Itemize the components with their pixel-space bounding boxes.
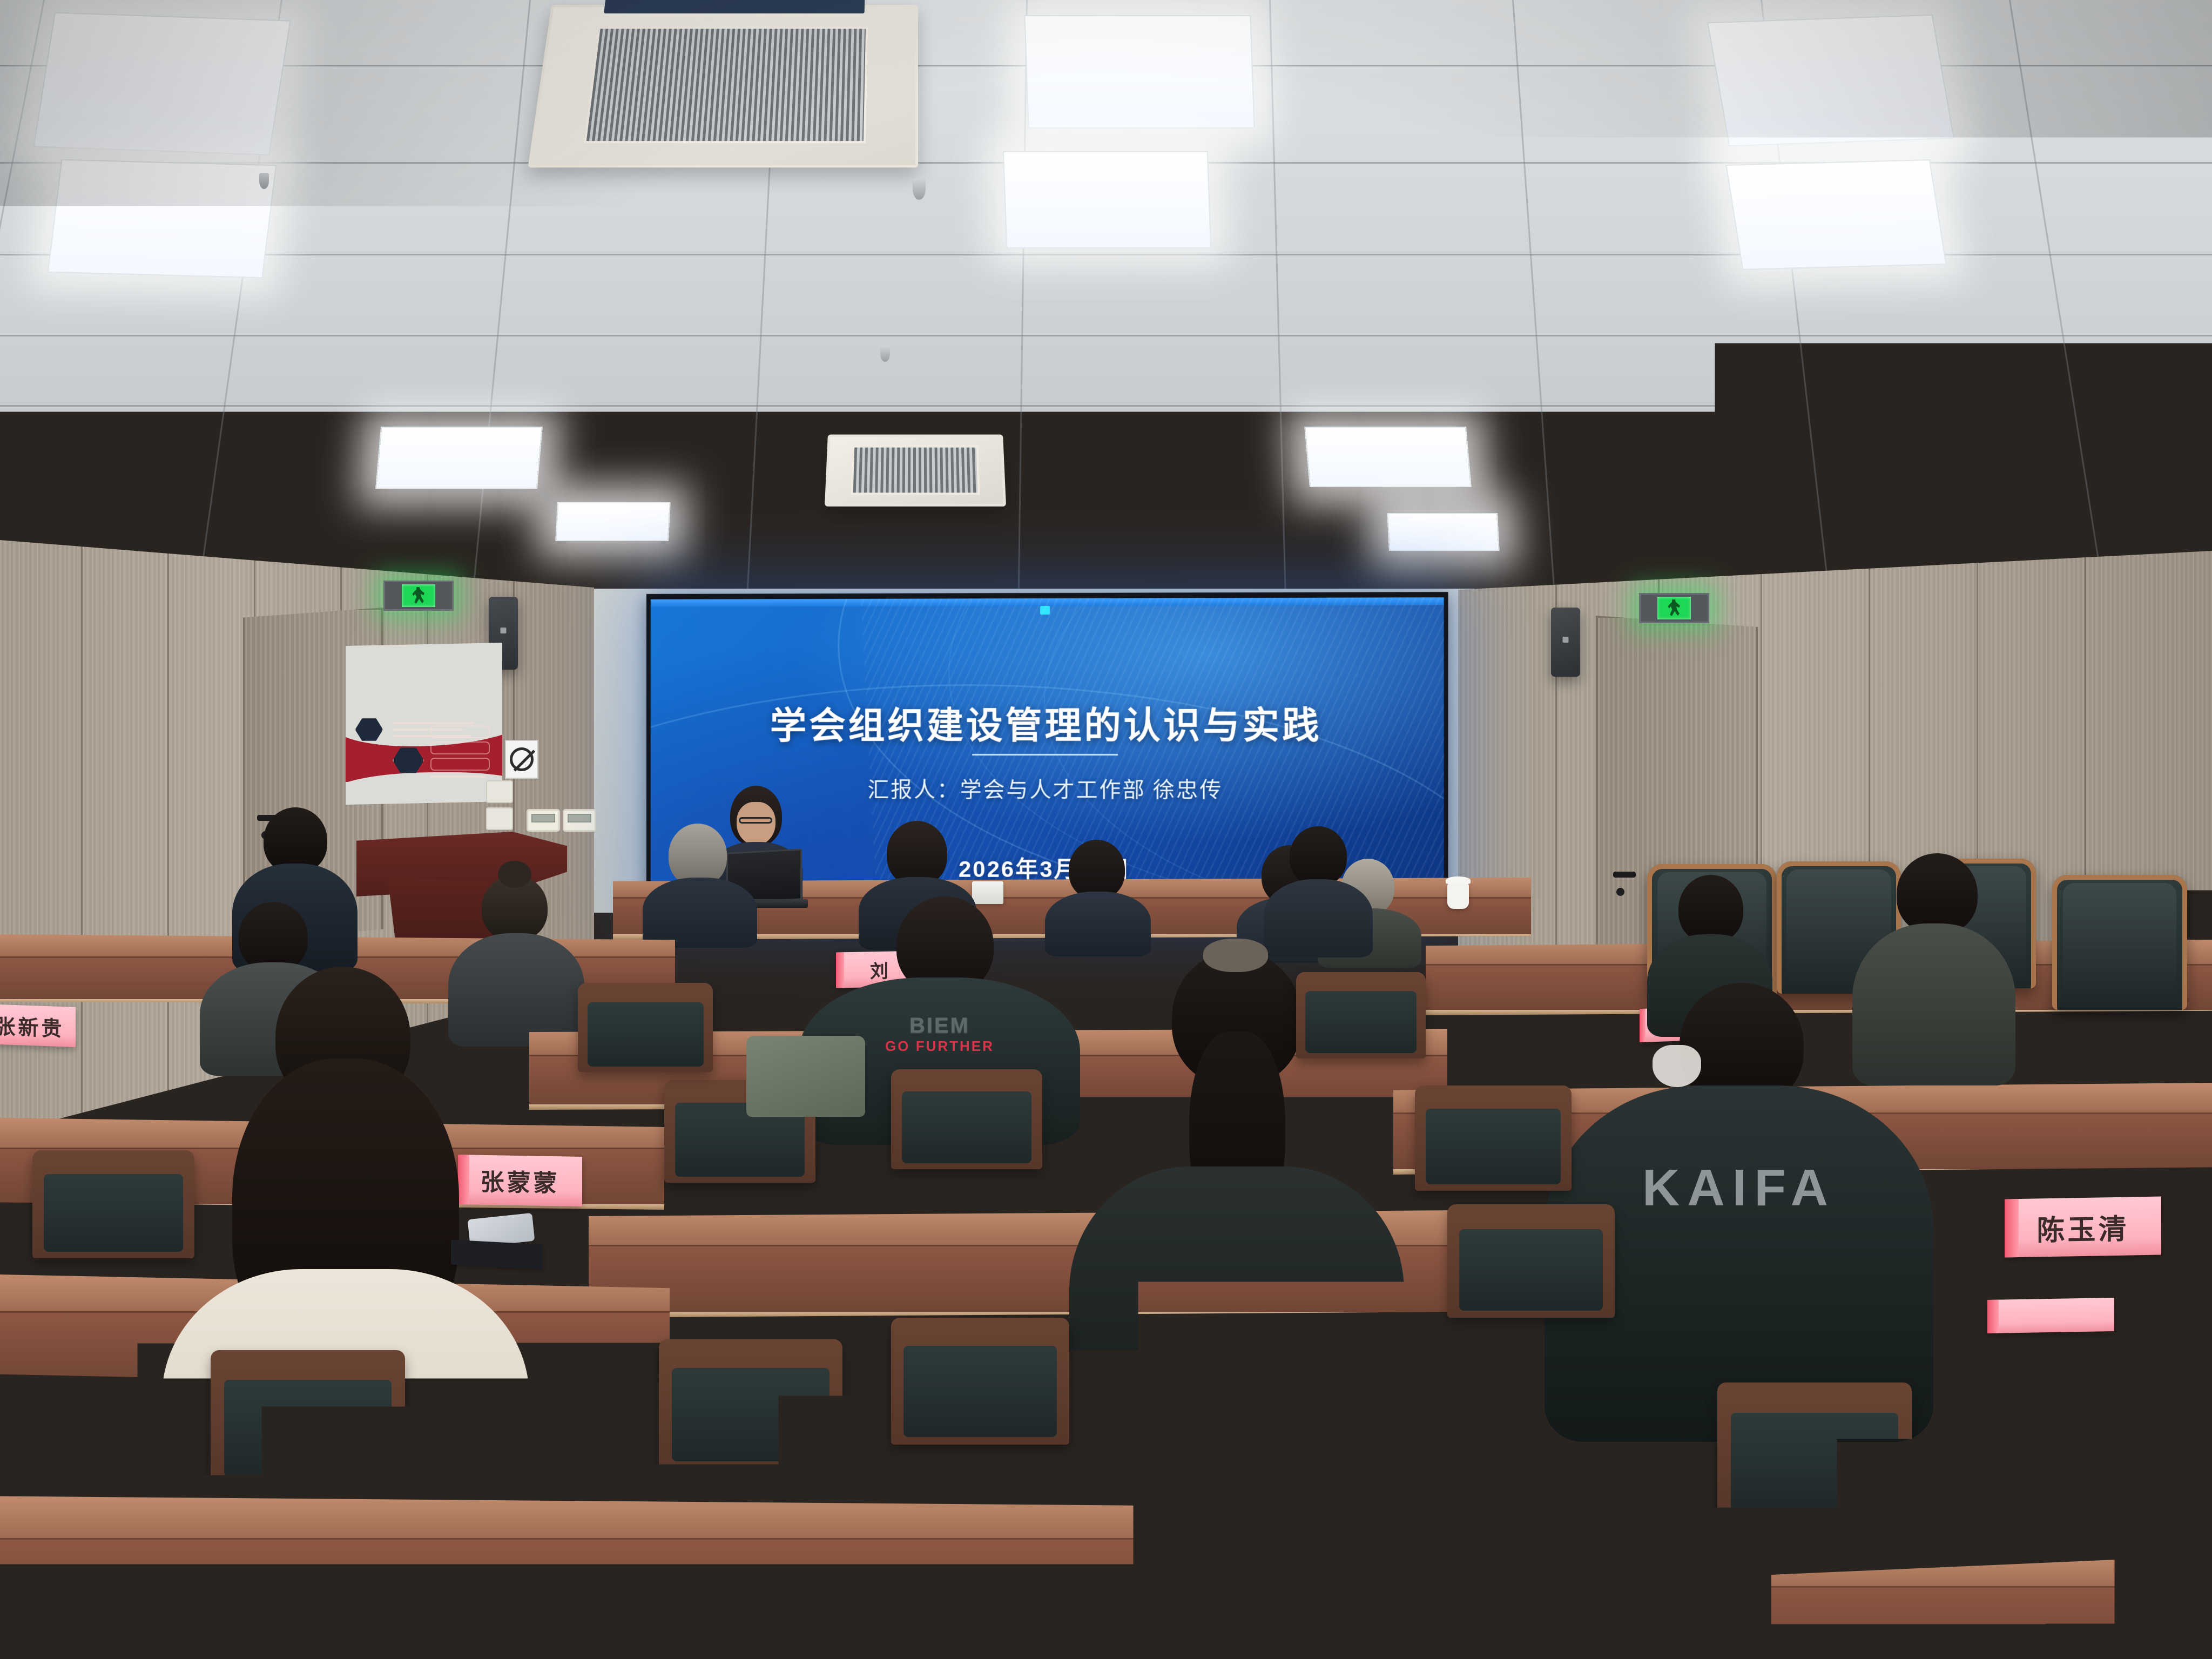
chair[interactable] — [659, 1339, 842, 1469]
no-smoking-sign — [505, 740, 538, 779]
ceiling-light-panel — [1003, 151, 1211, 248]
chair[interactable] — [891, 1069, 1042, 1169]
nameplate-chenyuqing: 陈玉清 — [2005, 1196, 2161, 1257]
teacup — [1447, 883, 1469, 909]
nameplate-zhangxingui: 张新贵 — [0, 1004, 76, 1047]
backpack[interactable] — [746, 1036, 865, 1117]
ceiling-light-panel — [1707, 15, 1954, 147]
wall-outlet[interactable] — [486, 780, 513, 803]
hvac-control-panel[interactable] — [527, 809, 560, 832]
notebook[interactable] — [451, 1240, 543, 1270]
ceiling-light-panel — [375, 427, 543, 489]
exit-icon — [402, 584, 435, 607]
poster-image — [393, 746, 424, 774]
exit-icon — [1657, 597, 1691, 619]
slide-divider — [972, 754, 1118, 756]
sprinkler-head — [880, 346, 890, 362]
attendee-head-table-left — [643, 824, 756, 932]
no-smoking-icon — [510, 747, 534, 771]
attendee-cream-sweater-woman — [162, 967, 529, 1588]
ceiling-light-panel — [555, 502, 671, 541]
torso — [1069, 1166, 1404, 1512]
ceiling-light-panel — [33, 12, 291, 155]
sprinkler-head — [259, 173, 269, 189]
chair[interactable] — [1717, 1382, 1912, 1520]
floor — [0, 1529, 2212, 1659]
ceiling-light-panel — [1304, 427, 1472, 487]
sprinkler-head — [913, 178, 926, 200]
jacket-brand-text: BIEM — [799, 1014, 1080, 1037]
ceiling-light-panel — [1024, 15, 1255, 129]
wall-speaker-right — [1551, 608, 1580, 677]
chair[interactable] — [32, 1150, 194, 1258]
chair[interactable] — [1447, 1204, 1615, 1318]
hair-bun — [498, 861, 531, 888]
air-conditioner-unit — [528, 5, 919, 167]
ceiling — [0, 0, 2212, 599]
air-conditioner-unit — [825, 435, 1006, 507]
hvac-control-panel[interactable] — [563, 809, 596, 832]
hand — [437, 1453, 502, 1495]
hair-tie — [1203, 939, 1268, 972]
chair[interactable] — [891, 1318, 1069, 1445]
chair[interactable] — [578, 983, 713, 1072]
chair[interactable] — [1415, 1085, 1572, 1191]
nameplate-far-right — [1987, 1298, 2114, 1333]
presenter-glasses — [739, 817, 772, 824]
ceiling-light-panel — [1387, 513, 1500, 551]
door-handle[interactable] — [1613, 872, 1636, 878]
conference-room-photo: 学会组织建设管理的认识与实践 汇报人：学会与人才工作部 徐忠传 2026年3月2… — [0, 0, 2212, 1659]
face-mask — [1653, 1045, 1701, 1087]
ceiling-light-panel — [48, 159, 276, 278]
executive-chair[interactable] — [2052, 875, 2187, 1010]
door-lock[interactable] — [1616, 888, 1624, 896]
exit-sign-right — [1639, 593, 1709, 623]
attendee-right-middle — [1264, 826, 1372, 950]
chair[interactable] — [211, 1350, 405, 1485]
wall-poster — [346, 643, 502, 805]
chair[interactable] — [1296, 972, 1426, 1058]
slide-title: 学会组织建设管理的认识与实践 — [651, 695, 1444, 749]
ceiling-light-panel — [1725, 159, 1946, 270]
exit-sign-left — [383, 581, 454, 611]
wall-outlet[interactable] — [486, 807, 513, 830]
